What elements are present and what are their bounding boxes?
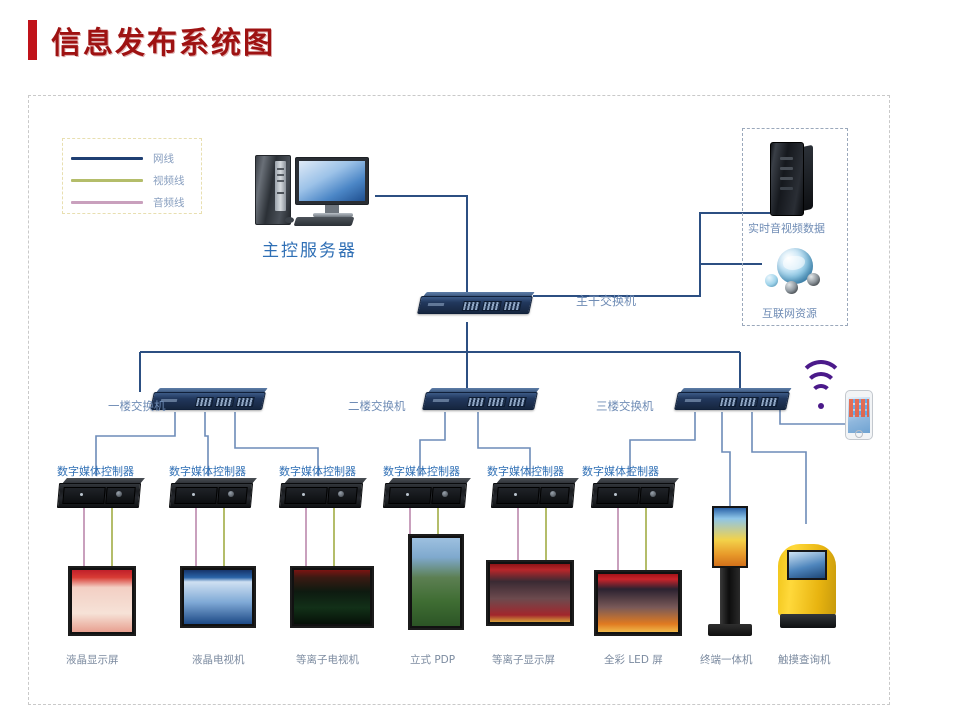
display-vertical-pdp xyxy=(408,534,464,630)
legend-item-audio: 音频线 xyxy=(71,191,193,213)
display-plasma-panel xyxy=(486,560,574,626)
floor-1-switch-label: 一楼交换机 xyxy=(108,398,166,414)
media-controller-3-label: 数字媒体控制器 xyxy=(279,463,356,479)
pc-monitor xyxy=(295,157,369,205)
media-controller-2-label: 数字媒体控制器 xyxy=(169,463,246,479)
pc-tower xyxy=(255,155,291,225)
globe-icon xyxy=(765,248,823,296)
legend-label-video: 视频线 xyxy=(153,173,185,188)
media-controller-5 xyxy=(492,478,576,508)
kiosk-touch-screen[interactable] xyxy=(787,550,827,580)
display-plasma-tv-label: 等离子电视机 xyxy=(296,652,359,667)
internet-label: 互联网资源 xyxy=(762,305,817,321)
legend-item-network: 网线 xyxy=(71,147,193,169)
kiosk-column xyxy=(720,568,740,626)
media-controller-6 xyxy=(592,478,676,508)
media-controller-1 xyxy=(58,478,142,508)
wifi-icon xyxy=(800,378,842,410)
display-lcd-monitor xyxy=(68,566,136,636)
page-title: 信息发布系统图 xyxy=(28,18,275,62)
server-tower-icon xyxy=(770,142,814,214)
display-plasma-tv xyxy=(290,566,374,628)
media-controller-6-label: 数字媒体控制器 xyxy=(582,463,659,479)
title-text: 信息发布系统图 xyxy=(51,18,275,62)
kiosk-screen xyxy=(712,506,748,568)
touch-inquiry-kiosk xyxy=(778,544,838,638)
rack-switch-floor-2 xyxy=(420,386,538,412)
core-switch-label: 主干交换机 xyxy=(576,292,636,309)
kiosk-base xyxy=(708,624,752,636)
diagram-canvas: 信息发布系统图 xyxy=(0,0,960,720)
legend-item-video: 视频线 xyxy=(71,169,193,191)
touch-inquiry-kiosk-label: 触摸查询机 xyxy=(778,652,831,667)
legend-swatch-audio xyxy=(71,201,143,204)
legend-label-network: 网线 xyxy=(153,151,174,166)
media-controller-4-label: 数字媒体控制器 xyxy=(383,463,460,479)
kiosk-base xyxy=(780,614,836,628)
terminal-kiosk xyxy=(706,506,754,638)
display-led-wall-label: 全彩 LED 屏 xyxy=(604,652,663,667)
floor-2-switch-label: 二楼交换机 xyxy=(348,398,406,414)
display-lcd-monitor-label: 液晶显示屏 xyxy=(66,652,119,667)
display-led-wall xyxy=(594,570,682,636)
terminal-kiosk-label: 终端一体机 xyxy=(700,652,753,667)
keyboard-icon xyxy=(294,217,355,226)
mouse-icon xyxy=(285,217,294,223)
rack-switch-floor-3 xyxy=(672,386,790,412)
display-lcd-tv-label: 液晶电视机 xyxy=(192,652,245,667)
server-label: 主控服务器 xyxy=(262,236,357,261)
display-lcd-tv xyxy=(180,566,256,628)
desktop-computer-icon xyxy=(255,155,375,230)
media-controller-5-label: 数字媒体控制器 xyxy=(487,463,564,479)
smartphone-icon xyxy=(845,390,873,440)
legend-swatch-network xyxy=(71,157,143,160)
floor-3-switch-label: 三楼交换机 xyxy=(596,398,654,414)
media-controller-4 xyxy=(384,478,468,508)
av-data-label: 实时音视频数据 xyxy=(748,220,825,236)
media-controller-3 xyxy=(280,478,364,508)
title-accent-bar xyxy=(28,20,37,60)
legend: 网线 视频线 音频线 xyxy=(62,138,202,214)
display-vertical-pdp-label: 立式 PDP xyxy=(410,652,455,667)
rack-switch-core xyxy=(415,290,533,316)
display-plasma-panel-label: 等离子显示屏 xyxy=(492,652,555,667)
legend-swatch-video xyxy=(71,179,143,182)
legend-label-audio: 音频线 xyxy=(153,195,185,210)
media-controller-1-label: 数字媒体控制器 xyxy=(57,463,134,479)
media-controller-2 xyxy=(170,478,254,508)
